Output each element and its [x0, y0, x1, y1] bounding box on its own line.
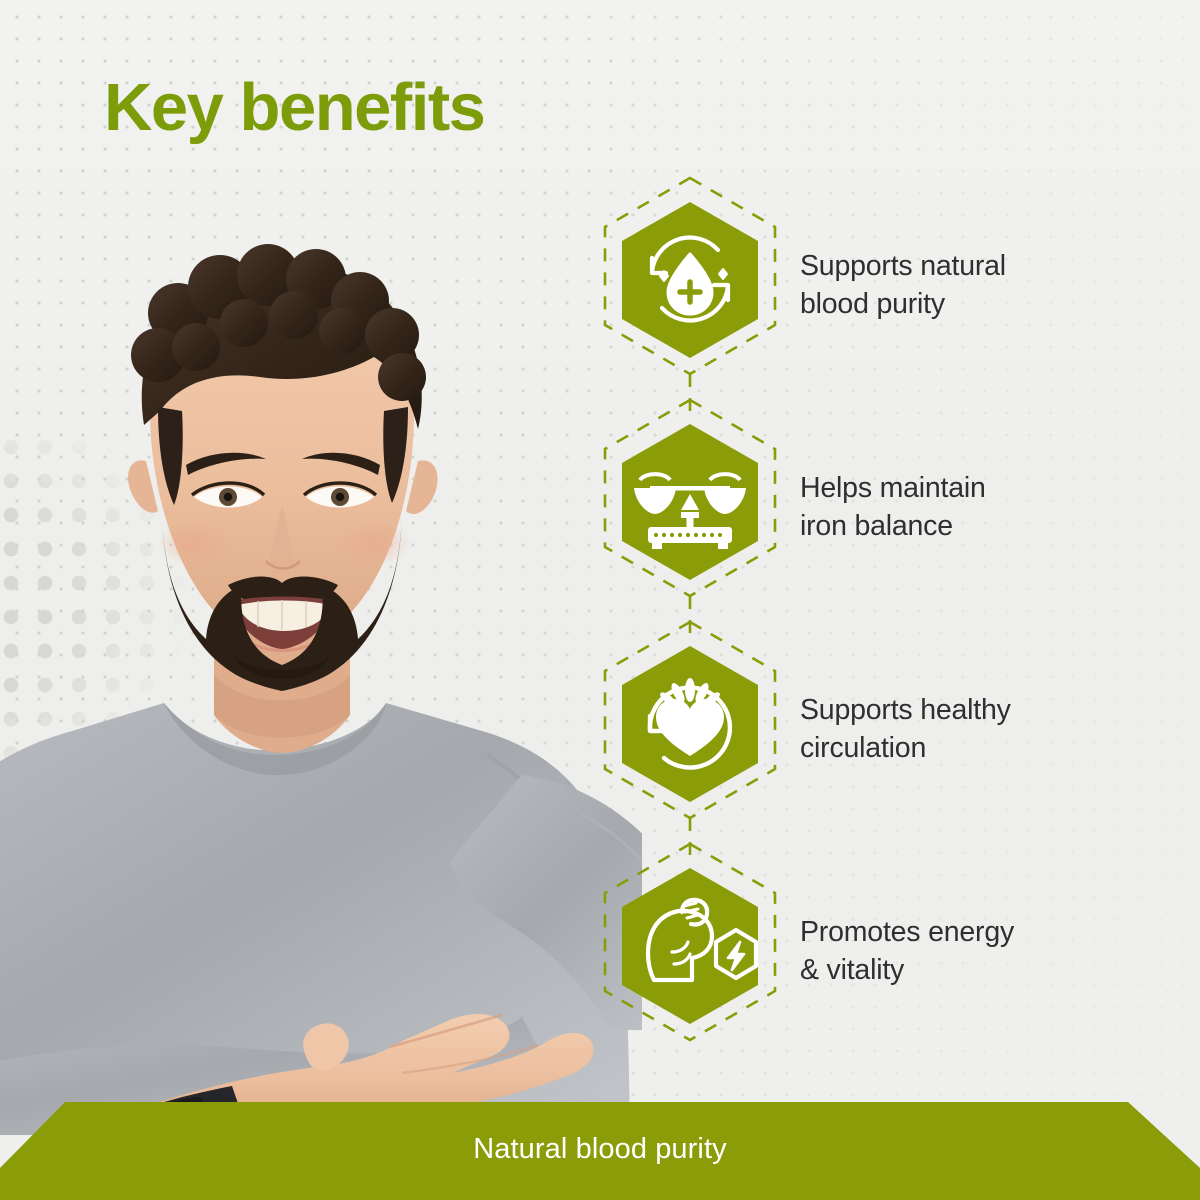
benefit-icon-hex-3 — [592, 630, 788, 830]
benefit-label-2-line2: iron balance — [800, 510, 953, 542]
benefit-label-4-line1: Promotes energy — [800, 916, 1014, 948]
benefit-label-3-line1: Supports healthy — [800, 694, 1011, 726]
footer-banner: Natural blood purity — [0, 1080, 1200, 1200]
benefit-icon-hex-4 — [592, 852, 788, 1052]
benefit-label-1-line2: blood purity — [800, 288, 945, 320]
benefit-item-blood-purity[interactable]: Supports natural blood purity — [592, 186, 1112, 386]
benefit-item-energy-vitality[interactable]: Promotes energy & vitality — [592, 852, 1112, 1052]
benefit-label-3-line2: circulation — [800, 732, 926, 764]
benefit-icon-hex-2 — [592, 408, 788, 608]
benefit-label-4-line2: & vitality — [800, 954, 904, 986]
benefit-item-circulation[interactable]: Supports healthy circulation — [592, 630, 1112, 830]
hero-person-photo — [0, 175, 642, 1135]
benefits-list: Supports natural blood purity — [592, 186, 1112, 1076]
benefit-item-iron-balance[interactable]: Helps maintain iron balance — [592, 408, 1112, 608]
page-title: Key benefits — [104, 74, 484, 141]
benefit-label-1: Supports natural blood purity — [800, 248, 1006, 324]
benefit-icon-hex-1 — [592, 186, 788, 386]
benefit-label-1-line1: Supports natural — [800, 250, 1006, 282]
footer-banner-label: Natural blood purity — [0, 1080, 1200, 1200]
benefit-label-4: Promotes energy & vitality — [800, 914, 1014, 990]
benefit-label-2: Helps maintain iron balance — [800, 470, 986, 546]
benefit-label-3: Supports healthy circulation — [800, 692, 1011, 768]
benefit-label-2-line1: Helps maintain — [800, 472, 986, 504]
